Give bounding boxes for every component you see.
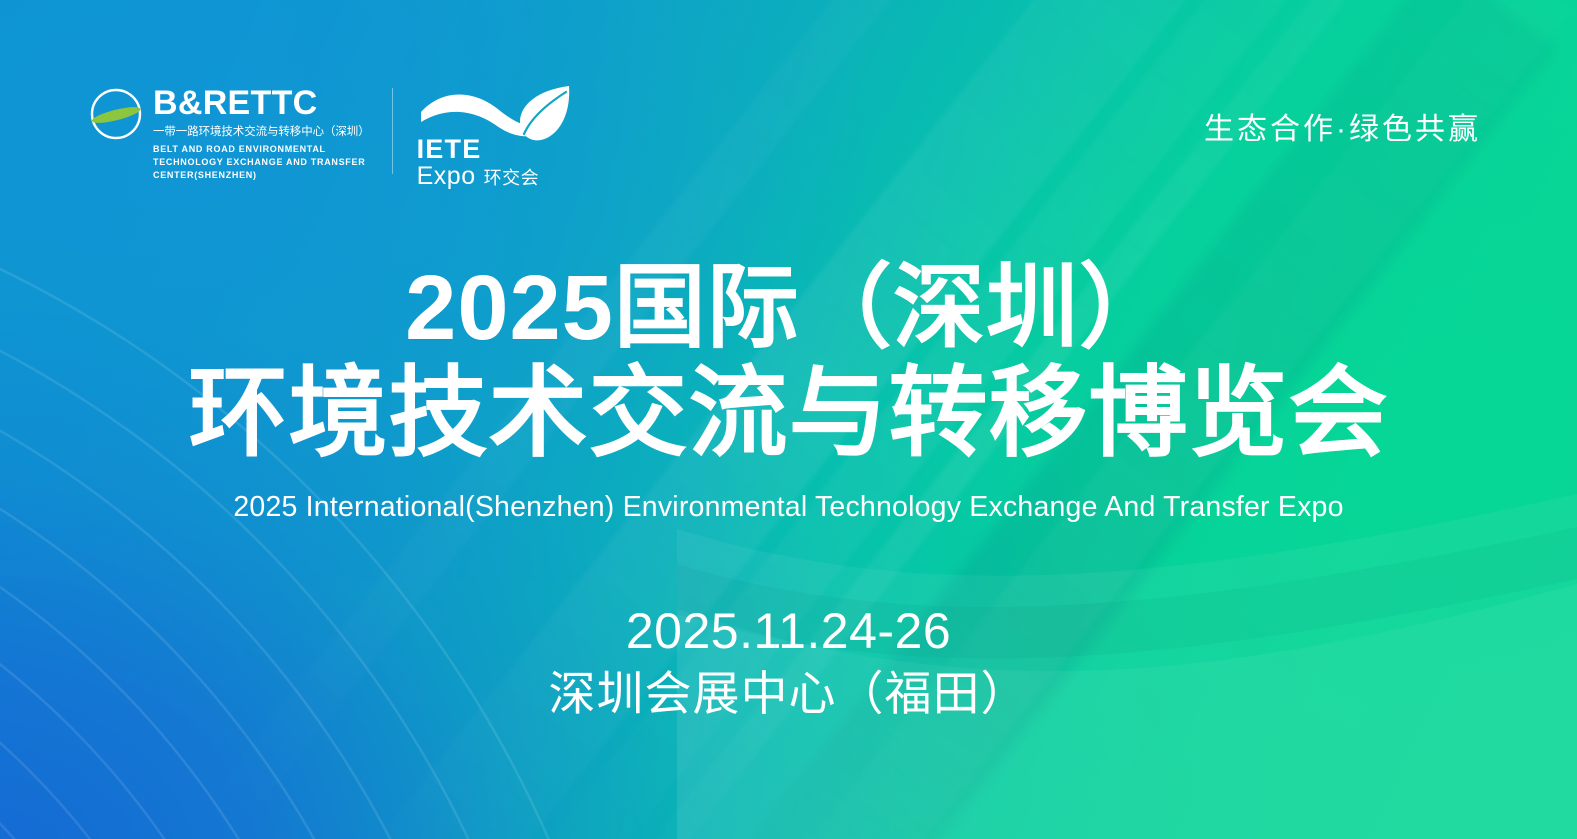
logo-iete-chinese: 环交会 <box>484 169 540 187</box>
event-date: 2025.11.24-26 <box>0 603 1577 660</box>
logo-iete-expo[interactable]: IETE Expo 环交会 <box>415 84 575 188</box>
logo-brettc[interactable]: B&RETTC 一带一路环境技术交流与转移中心（深圳） BELT AND ROA… <box>88 84 370 182</box>
logo-brettc-text: B&RETTC 一带一路环境技术交流与转移中心（深圳） BELT AND ROA… <box>153 84 370 182</box>
title-line-2: 环境技术交流与转移博览会 <box>0 358 1577 469</box>
logo-iete-expo-word: Expo <box>417 164 476 189</box>
logo-brettc-chinese: 一带一路环境技术交流与转移中心（深圳） <box>153 125 370 141</box>
logo-iete-abbr: IETE <box>417 136 482 163</box>
globe-ellipse-icon <box>88 86 144 142</box>
expo-poster: B&RETTC 一带一路环境技术交流与转移中心（深圳） BELT AND ROA… <box>0 0 1577 839</box>
logo-divider <box>392 88 393 174</box>
event-venue: 深圳会展中心（福田） <box>0 666 1577 722</box>
logo-iete-expo-row: Expo 环交会 <box>417 164 539 189</box>
header-slogan: 生态合作·绿色共赢 <box>1204 104 1481 148</box>
logo-brettc-name: B&RETTC <box>153 86 370 120</box>
poster-header: B&RETTC 一带一路环境技术交流与转移中心（深圳） BELT AND ROA… <box>0 84 1577 194</box>
logo-group: B&RETTC 一带一路环境技术交流与转移中心（深圳） BELT AND ROA… <box>88 84 575 188</box>
main-title-block: 2025国际（深圳） 环境技术交流与转移博览会 2025 Internation… <box>0 262 1577 524</box>
event-meta-block: 2025.11.24-26 深圳会展中心（福田） <box>0 603 1577 722</box>
logo-brettc-english: BELT AND ROAD ENVIRONMENTAL TECHNOLOGY E… <box>153 143 368 182</box>
subtitle-english: 2025 International(Shenzhen) Environment… <box>0 491 1577 524</box>
title-line-1: 2025国际（深圳） <box>0 262 1577 356</box>
